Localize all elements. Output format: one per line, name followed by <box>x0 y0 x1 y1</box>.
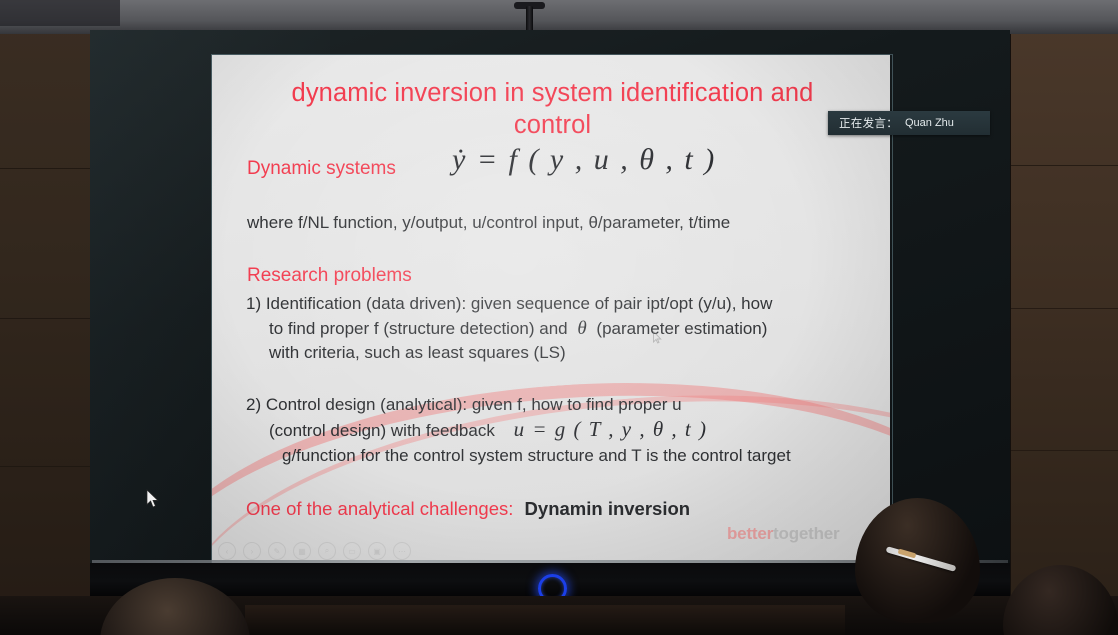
now-speaking-label: 正在发言： <box>828 115 898 131</box>
now-speaking-badge: 正在发言： Quan Zhu <box>828 111 990 135</box>
ceiling-shadow <box>0 0 120 26</box>
right-wall <box>1011 20 1118 635</box>
ceiling <box>0 0 1118 34</box>
wall-mouse-cursor-icon <box>146 489 159 508</box>
speaker-name: Quan Zhu <box>898 117 954 129</box>
conference-room-scene: dynamic inversion in system identificati… <box>0 0 1118 635</box>
table-edge <box>245 605 845 635</box>
slide-border <box>211 54 893 566</box>
